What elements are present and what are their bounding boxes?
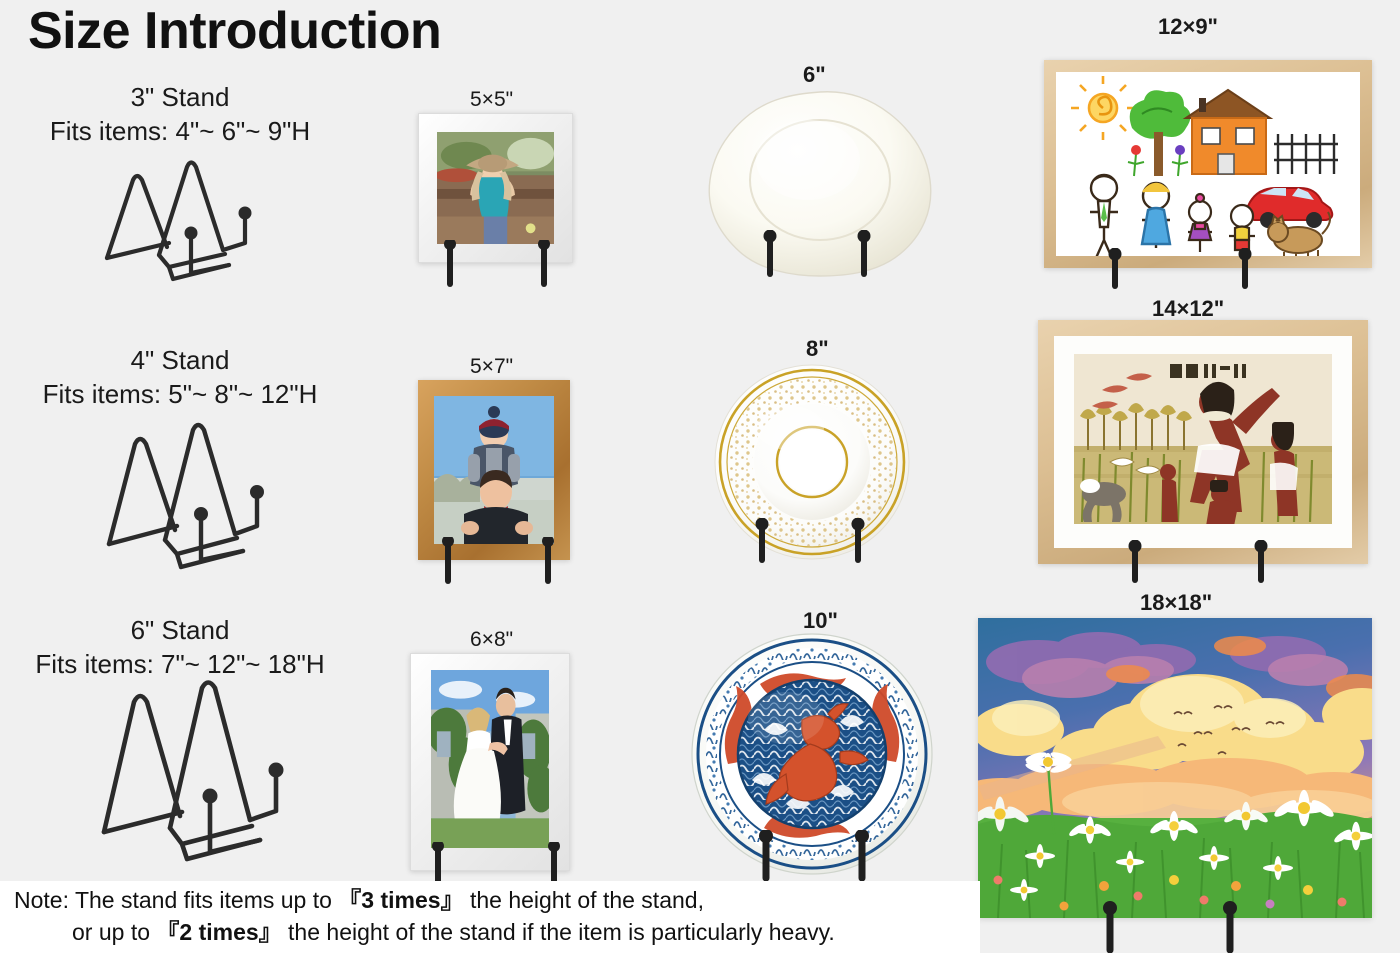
stand-prong-pair-icon <box>752 518 874 564</box>
artwork-1-label: 12×9" <box>1158 14 1218 40</box>
note-line2-text2: the height of the stand if the item is p… <box>288 919 835 945</box>
wire-easel-stand-icon <box>95 155 295 290</box>
stand-1-title: 3" Stand <box>0 82 360 113</box>
artwork-3-label: 18×18" <box>1140 590 1212 616</box>
stand-prong-pair-icon <box>428 842 568 886</box>
stand-prong-pair-icon <box>440 240 560 288</box>
stand-2-title: 4" Stand <box>0 345 360 376</box>
note-line2-close-bracket: 』 <box>259 919 282 945</box>
note-line2-open-bracket: 『 <box>156 919 179 945</box>
note-line1-close-bracket: 』 <box>441 887 464 913</box>
plate-2-label: 8" <box>806 336 829 362</box>
stand-prong-pair-icon <box>1125 540 1275 584</box>
artwork-canvas-18x18 <box>978 618 1372 918</box>
stand-prong-pair-icon <box>756 830 876 882</box>
page-title: Size Introduction <box>28 4 441 59</box>
infographic-page: Size Introduction 3" Stand Fits items: 4… <box>0 0 1400 953</box>
childs-crayon-family-drawing <box>1056 72 1360 256</box>
wedding-couple-photo <box>431 670 549 848</box>
stand-prong-pair-icon <box>1105 248 1260 290</box>
stand-1-fits: Fits items: 4"~ 6"~ 9"H <box>0 116 360 147</box>
note-line-1: Note: The stand fits items up to 『3 time… <box>14 885 980 917</box>
plate-3-label: 10" <box>803 608 838 634</box>
plate-1-label: 6" <box>803 62 826 88</box>
stand-prong-pair-icon <box>760 230 880 278</box>
frame-2-label: 5×7" <box>470 355 513 379</box>
note-line1-text1: Note: The stand fits items up to <box>14 887 332 913</box>
artwork-2-label: 14×12" <box>1152 296 1224 322</box>
stand-2-fits: Fits items: 5"~ 8"~ 12"H <box>0 379 360 410</box>
girl-in-sun-hat-photo <box>437 132 554 244</box>
stand-3-fits: Fits items: 7"~ 12"~ 18"H <box>0 649 360 680</box>
ancient-egyptian-tomb-painting <box>1074 354 1332 524</box>
note-bar: Note: The stand fits items up to 『3 time… <box>0 881 980 953</box>
note-line2-text1: or up to <box>72 919 150 945</box>
wire-easel-stand-icon <box>90 680 320 875</box>
wire-easel-stand-icon <box>95 420 305 580</box>
artwork-frame-14x12 <box>1038 320 1368 564</box>
note-line2-emphasis: 2 times <box>179 919 258 945</box>
daisy-field-sunset-clouds-canvas <box>978 618 1372 918</box>
artwork-frame-12x9 <box>1044 60 1372 268</box>
frame-1-label: 5×5" <box>470 88 513 112</box>
photo-frame-5x7 <box>418 380 570 560</box>
father-and-child-winter-photo <box>434 396 554 544</box>
stand-prong-pair-icon <box>1100 900 1245 953</box>
photo-frame-6x8 <box>410 653 570 871</box>
note-line-2: or up to 『2 times』 the height of the sta… <box>14 917 980 949</box>
note-line1-text2: the height of the stand, <box>470 887 704 913</box>
stand-prong-pair-icon <box>438 537 562 585</box>
note-line1-open-bracket: 『 <box>338 887 361 913</box>
frame-3-label: 6×8" <box>470 628 513 652</box>
note-line1-emphasis: 3 times <box>361 887 440 913</box>
stand-3-title: 6" Stand <box>0 615 360 646</box>
